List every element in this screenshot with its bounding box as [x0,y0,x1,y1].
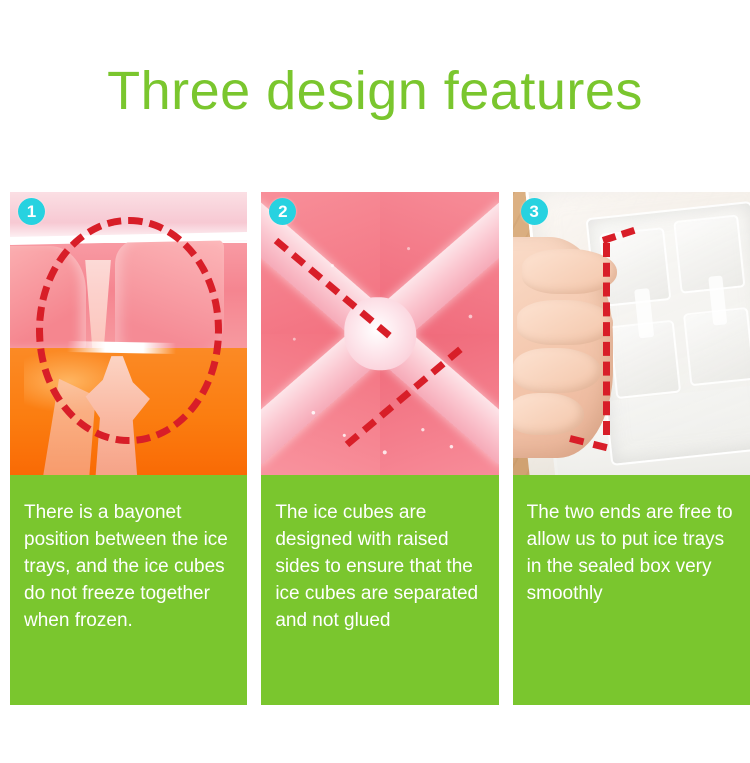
dashed-vertical-annotation-icon [603,243,610,435]
feature-photo-1: 1 [10,192,247,475]
step-badge-1: 1 [18,198,45,225]
step-badge-3: 3 [521,198,548,225]
feature-photo-2: 2 [261,192,498,475]
feature-panel-3: 3 The two ends are free to allow us to p… [513,192,750,705]
water-droplets [261,192,498,475]
feature-caption-2: The ice cubes are designed with raised s… [261,475,498,705]
feature-panel-1: 1 There is a bayonet position between th… [10,192,247,705]
finger [517,300,612,345]
infographic-page: Three design features 1 There is a bayon… [0,0,750,763]
dashed-circle-annotation-icon [36,217,222,443]
feature-panels: 1 There is a bayonet position between th… [10,192,750,705]
feature-caption-3: The two ends are free to allow us to put… [513,475,750,705]
feature-panel-2: 2 The ice cubes are designed with raised… [261,192,498,705]
page-title: Three design features [0,60,750,122]
feature-photo-3: 3 [513,192,750,475]
finger [513,348,601,393]
feature-caption-1: There is a bayonet position between the … [10,475,247,705]
finger [513,393,584,435]
